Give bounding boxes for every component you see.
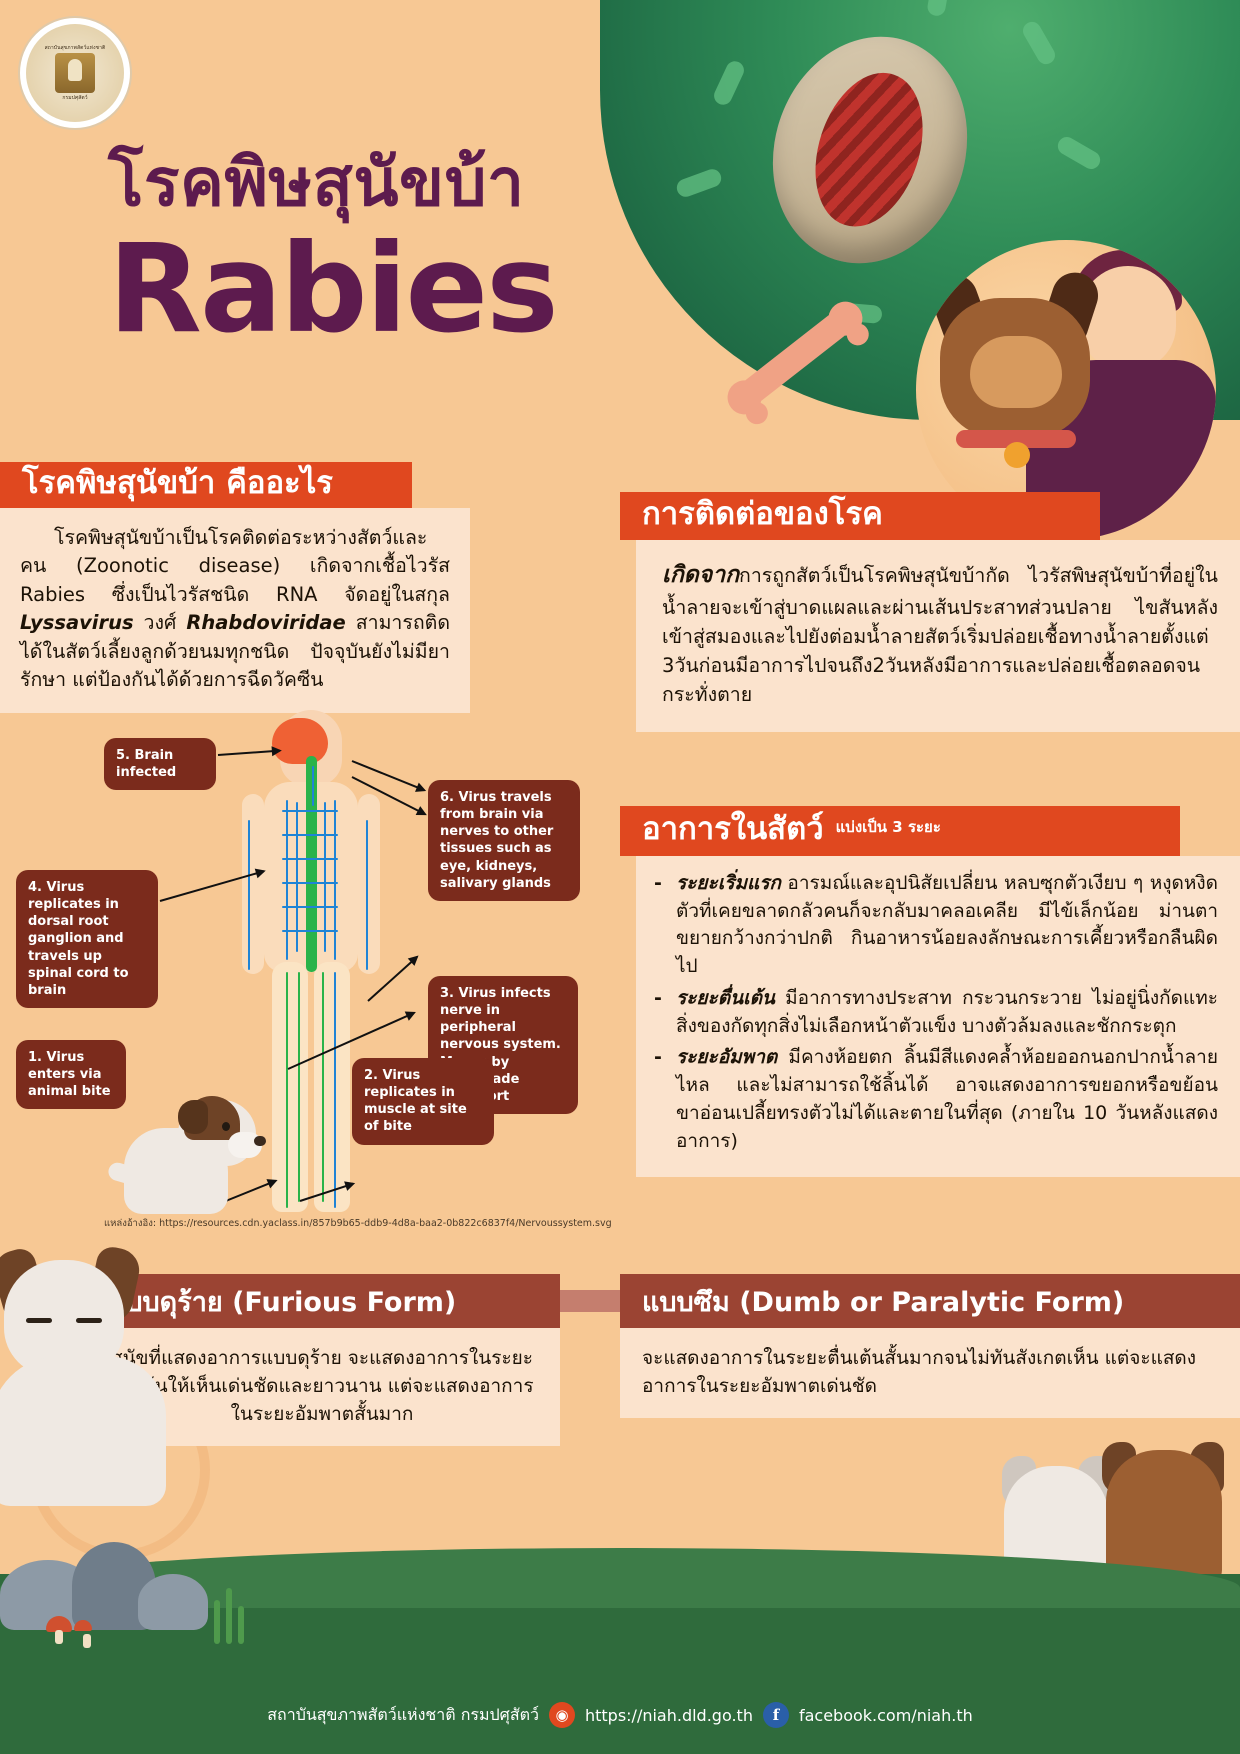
symptoms-subheading: แบ่งเป็น 3 ระยะ (836, 815, 941, 843)
footer-website-link[interactable]: https://niah.dld.go.th (585, 1706, 753, 1725)
sitting-dog-illustration (118, 1070, 268, 1220)
footer-facebook-link[interactable]: facebook.com/niah.th (799, 1706, 973, 1725)
symptom-dash: - (654, 1044, 676, 1155)
dog-snout (970, 336, 1062, 408)
what-is-rabies-panel: โรคพิษสุนัขบ้าเป็นโรคติดต่อระหว่างสัตว์แ… (0, 508, 470, 713)
dog-nose (254, 1136, 266, 1146)
brain-illustration (272, 718, 328, 764)
nervous-system-diagram: 5. Brain infected 6. Virus travels from … (0, 700, 620, 1240)
symptom-dash: - (654, 870, 676, 981)
what-is-rabies-heading: โรคพิษสุนัขบ้า คืออะไร (22, 466, 333, 500)
diagram-callout-step-2: 2. Virus replicates in muscle at site of… (352, 1058, 494, 1145)
diagram-callout-step-5: 5. Brain infected (104, 738, 216, 790)
what-is-body-2: วงศ์ (134, 611, 187, 634)
symptoms-panel: - ระยะเริ่มแรก อารมณ์และอุปนิสัยเปลี่ยน … (636, 856, 1240, 1177)
transmission-heading: การติดต่อของโรค (642, 497, 883, 531)
diagram-source-attribution: แหล่งอ้างอิง: https://resources.cdn.yacl… (104, 1216, 624, 1231)
rocks-decoration (0, 1524, 320, 1644)
symptom-stage-item: - ระยะตื่นเต้น มีอาการทางประสาท กระวนกระ… (654, 985, 1218, 1040)
symptom-stage-item: - ระยะอัมพาต มีคางห้อยตก ลิ้นมีสีแดงคล้ำ… (654, 1044, 1218, 1155)
diagram-callout-step-1: 1. Virus enters via animal bite (16, 1040, 126, 1109)
person-head (1080, 266, 1176, 370)
poster-title-english: Rabies (108, 228, 557, 350)
dog-tag-icon (1004, 442, 1030, 468)
left-dog-illustration (0, 1260, 180, 1470)
dumb-form-heading: แบบซึม (Dumb or Paralytic Form) (642, 1280, 1124, 1323)
what-is-rabies-header: โรคพิษสุนัขบ้า คืออะไร (0, 462, 412, 508)
virus-genus: Lyssavirus (20, 611, 134, 634)
transmission-panel: เกิดจากการถูกสัตว์เป็นโรคพิษสุนัขบ้ากัด … (636, 540, 1240, 732)
globe-icon: ◉ (549, 1702, 575, 1728)
virus-family: Rhabdoviridae (186, 611, 345, 634)
diagram-callout-step-4: 4. Virus replicates in dorsal root gangl… (16, 870, 158, 1008)
dog-eye-right (76, 1318, 102, 1323)
symptom-stage-name: ระยะตื่นเต้น (676, 987, 775, 1009)
symptom-dash: - (654, 985, 676, 1040)
logo-emblem-icon (55, 53, 95, 93)
facebook-icon: f (763, 1702, 789, 1728)
transmission-lead: เกิดจาก (662, 562, 739, 588)
virus-rna-core (797, 59, 941, 240)
dog-eye (222, 1122, 230, 1131)
footer-links: สถาบันสุขภาพสัตว์แห่งชาติ กรมปศุสัตว์ ◉ … (0, 1702, 1240, 1728)
dog-eye-left (26, 1318, 52, 1323)
dog-ear (178, 1100, 208, 1134)
dumb-form-body: จะแสดงอาการในระยะตื่นเต้นสั้นมากจนไม่ทัน… (642, 1347, 1196, 1397)
diagram-callout-step-6: 6. Virus travels from brain via nerves t… (428, 780, 580, 901)
transmission-body: การถูกสัตว์เป็นโรคพิษสุนัขบ้ากัด ไวรัสพิ… (662, 564, 1218, 706)
dog-body (0, 1356, 166, 1506)
dumb-form-header: แบบซึม (Dumb or Paralytic Form) (620, 1274, 1240, 1328)
section-connector (560, 1290, 620, 1312)
symptom-stage-name: ระยะอัมพาต (676, 1046, 777, 1068)
poster-root: สถาบันสุขภาพสัตว์แห่งชาติ กรมปศุสัตว์ โร… (0, 0, 1240, 1754)
dumb-form-panel: จะแสดงอาการในระยะตื่นเต้นสั้นมากจนไม่ทัน… (620, 1328, 1240, 1418)
virus-capsid (744, 11, 996, 288)
figure-leg-left (272, 962, 308, 1212)
symptoms-heading: อาการในสัตว์ (642, 812, 824, 846)
transmission-header: การติดต่อของโรค (620, 492, 1100, 540)
what-is-body-1: โรคพิษสุนัขบ้าเป็นโรคติดต่อระหว่างสัตว์แ… (20, 526, 450, 606)
symptom-stage-name: ระยะเริ่มแรก (676, 872, 781, 894)
organization-logo: สถาบันสุขภาพสัตว์แห่งชาติ กรมปศุสัตว์ (20, 18, 130, 128)
figure-leg-right (314, 962, 350, 1212)
figure-arm-left (242, 794, 264, 974)
poster-title-thai: โรคพิษสุนัขบ้า (108, 150, 525, 216)
figure-arm-right (358, 794, 380, 974)
symptom-stage-item: - ระยะเริ่มแรก อารมณ์และอุปนิสัยเปลี่ยน … (654, 870, 1218, 981)
header: สถาบันสุขภาพสัตว์แห่งชาติ กรมปศุสัตว์ โร… (0, 0, 1240, 470)
symptoms-header: อาการในสัตว์ แบ่งเป็น 3 ระยะ (620, 806, 1180, 856)
logo-bottom-label: กรมปศุสัตว์ (62, 95, 87, 101)
footer-organization: สถาบันสุขภาพสัตว์แห่งชาติ กรมปศุสัตว์ (267, 1703, 539, 1728)
logo-top-label: สถาบันสุขภาพสัตว์แห่งชาติ (45, 45, 106, 51)
